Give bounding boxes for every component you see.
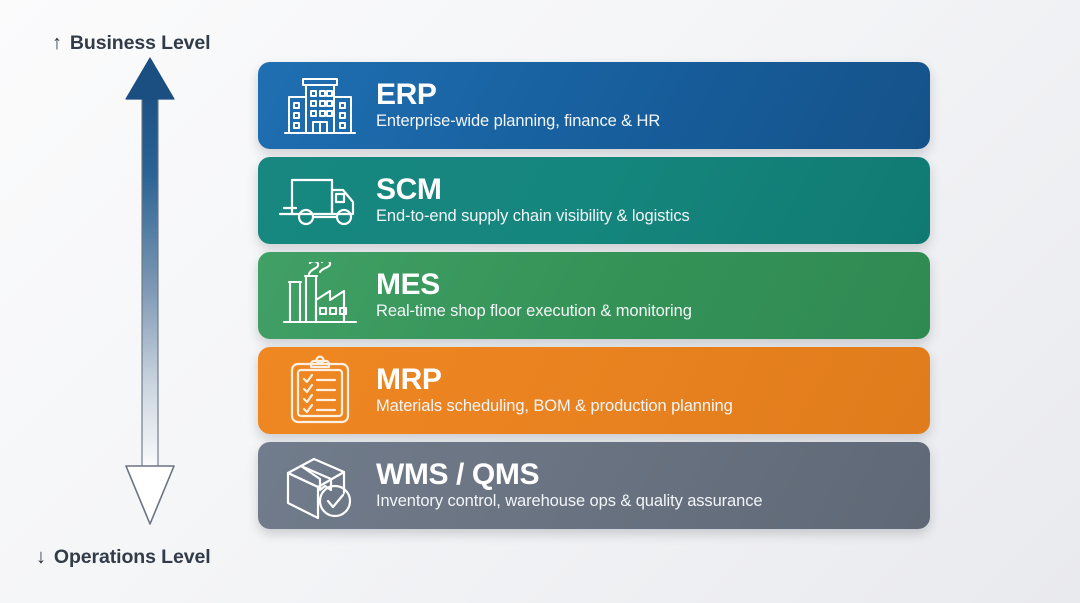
- layer-text-mes: MES Real-time shop floor execution & mon…: [376, 269, 708, 321]
- layer-title-mes: MES: [376, 269, 692, 301]
- layer-band-erp[interactable]: ERP Enterprise-wide planning, finance & …: [258, 62, 930, 149]
- level-axis: ↑ Business Level ↓ Operations L: [0, 0, 258, 603]
- layer-band-wms[interactable]: WMS / QMS Inventory control, warehouse o…: [258, 442, 930, 529]
- office-building-icon: [258, 73, 376, 139]
- diagram-canvas: ↑ Business Level ↓ Operations L: [0, 0, 1080, 603]
- hierarchy-arrow-icon: [108, 52, 192, 532]
- clipboard-checklist-icon: [258, 355, 376, 427]
- layer-stack: ERP Enterprise-wide planning, finance & …: [258, 62, 930, 529]
- layer-subtitle-erp: Enterprise-wide planning, finance & HR: [376, 112, 660, 131]
- operations-level-text: Operations Level: [54, 546, 211, 569]
- layer-subtitle-mrp: Materials scheduling, BOM & production p…: [376, 397, 733, 416]
- layer-band-mes[interactable]: MES Real-time shop floor execution & mon…: [258, 252, 930, 339]
- arrow-down-icon: ↓: [36, 547, 46, 567]
- layer-text-erp: ERP Enterprise-wide planning, finance & …: [376, 79, 676, 131]
- layer-text-mrp: MRP Materials scheduling, BOM & producti…: [376, 364, 749, 416]
- layer-band-scm[interactable]: SCM End-to-end supply chain visibility &…: [258, 157, 930, 244]
- box-check-icon: [258, 451, 376, 521]
- layer-subtitle-scm: End-to-end supply chain visibility & log…: [376, 207, 690, 226]
- layer-text-wms: WMS / QMS Inventory control, warehouse o…: [376, 459, 778, 511]
- layer-title-scm: SCM: [376, 174, 690, 206]
- arrow-up-icon: ↑: [52, 33, 62, 53]
- layer-title-erp: ERP: [376, 79, 660, 111]
- layer-text-scm: SCM End-to-end supply chain visibility &…: [376, 174, 706, 226]
- layer-subtitle-wms: Inventory control, warehouse ops & quali…: [376, 492, 762, 511]
- delivery-truck-icon: [258, 172, 376, 230]
- factory-icon: [258, 262, 376, 330]
- operations-level-label: ↓ Operations Level: [36, 546, 211, 569]
- layer-title-wms: WMS / QMS: [376, 459, 762, 491]
- layer-title-mrp: MRP: [376, 364, 733, 396]
- layer-subtitle-mes: Real-time shop floor execution & monitor…: [376, 302, 692, 321]
- layer-band-mrp[interactable]: MRP Materials scheduling, BOM & producti…: [258, 347, 930, 434]
